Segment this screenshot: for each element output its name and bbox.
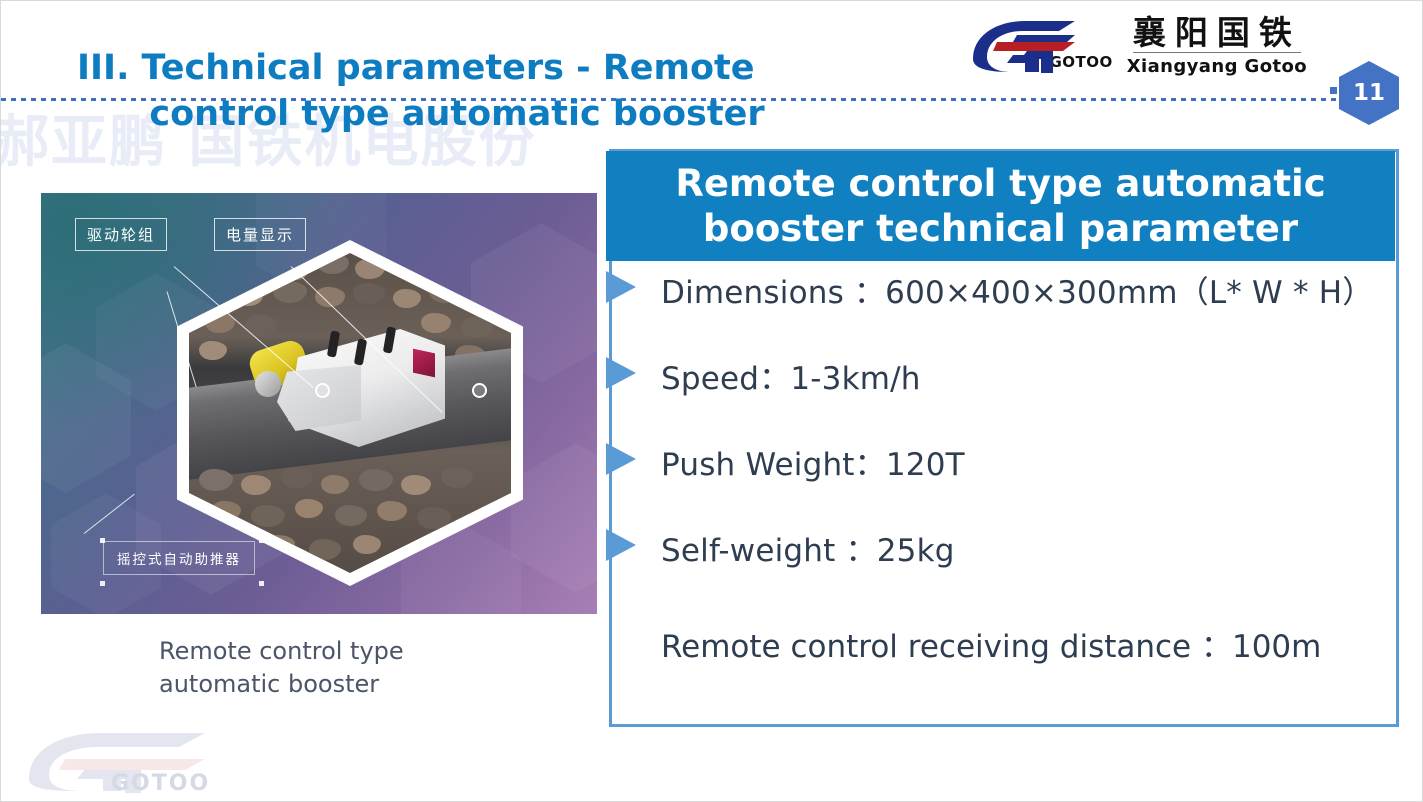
- company-logo: GOTOO 襄阳国铁 Xiangyang Gotoo: [963, 15, 1307, 77]
- product-illustration: 驱动轮组 电量显示 摇控式自动助推器: [41, 193, 597, 614]
- label-corner-marker: [259, 581, 264, 586]
- page-number-badge: 11: [1339, 61, 1399, 125]
- page-title-line-1: III. Technical parameters - Remote: [77, 45, 837, 91]
- parameter-row: Dimensions ：600×400×300mm（L* W * H）: [609, 263, 1399, 349]
- parameter-row: Self-weight ：25kg: [609, 521, 1399, 607]
- parameters-panel-header: Remote control type automatic booster te…: [606, 151, 1395, 261]
- parameter-text: Self-weight ：25kg: [661, 525, 955, 570]
- parameter-text: Speed：1-3km/h: [661, 353, 921, 398]
- callout-label-battery-display: 电量显示: [214, 218, 306, 251]
- bullet-arrow-icon: [606, 271, 636, 303]
- parameter-row: Push Weight：120T: [609, 435, 1399, 521]
- logo-chinese-block: 襄阳国铁 Xiangyang Gotoo: [1127, 16, 1307, 77]
- logo-english-text: Xiangyang Gotoo: [1127, 56, 1307, 77]
- booster-front-face: [277, 365, 361, 431]
- callout-label-device-name: 摇控式自动助推器: [103, 541, 255, 575]
- product-photo: [189, 253, 511, 573]
- parameter-row: Speed：1-3km/h: [609, 349, 1399, 435]
- callout-dot-battery: [472, 383, 487, 398]
- page-badge-dot-icon: [1330, 87, 1337, 94]
- logo-chinese-text: 襄阳国铁: [1133, 16, 1301, 53]
- gf-emblem-icon: [963, 15, 1083, 77]
- bullet-arrow-icon: [606, 529, 636, 561]
- parameter-text: Push Weight：120T: [661, 439, 965, 484]
- page-number-text: 11: [1353, 80, 1385, 106]
- page-title-line-2: control type automatic booster: [77, 91, 837, 137]
- bullet-arrow-icon: [606, 357, 636, 389]
- battery-display-panel: [413, 349, 435, 378]
- parameters-list: Dimensions ：600×400×300mm（L* W * H） Spee…: [609, 263, 1399, 607]
- hex-decor-icon: [511, 443, 597, 593]
- page-title: III. Technical parameters - Remote contr…: [77, 45, 837, 137]
- callout-label-drive-wheel: 驱动轮组: [75, 218, 167, 251]
- parameter-text: Dimensions ：600×400×300mm（L* W * H）: [661, 267, 1373, 312]
- parameter-text-receiving-distance: Remote control receiving distance ：100m: [661, 621, 1321, 666]
- illustration-caption: Remote control type automatic booster: [159, 635, 459, 701]
- slide-canvas: 郝亚鹏 国铁机电股份 郝亚鹏 国铁机电股份 III. Technical par…: [0, 0, 1423, 802]
- footer-gotoo-text: GOTOO: [111, 771, 210, 796]
- callout-dot-wheel: [315, 383, 330, 398]
- bullet-arrow-icon: [606, 443, 636, 475]
- label-corner-marker: [100, 581, 105, 586]
